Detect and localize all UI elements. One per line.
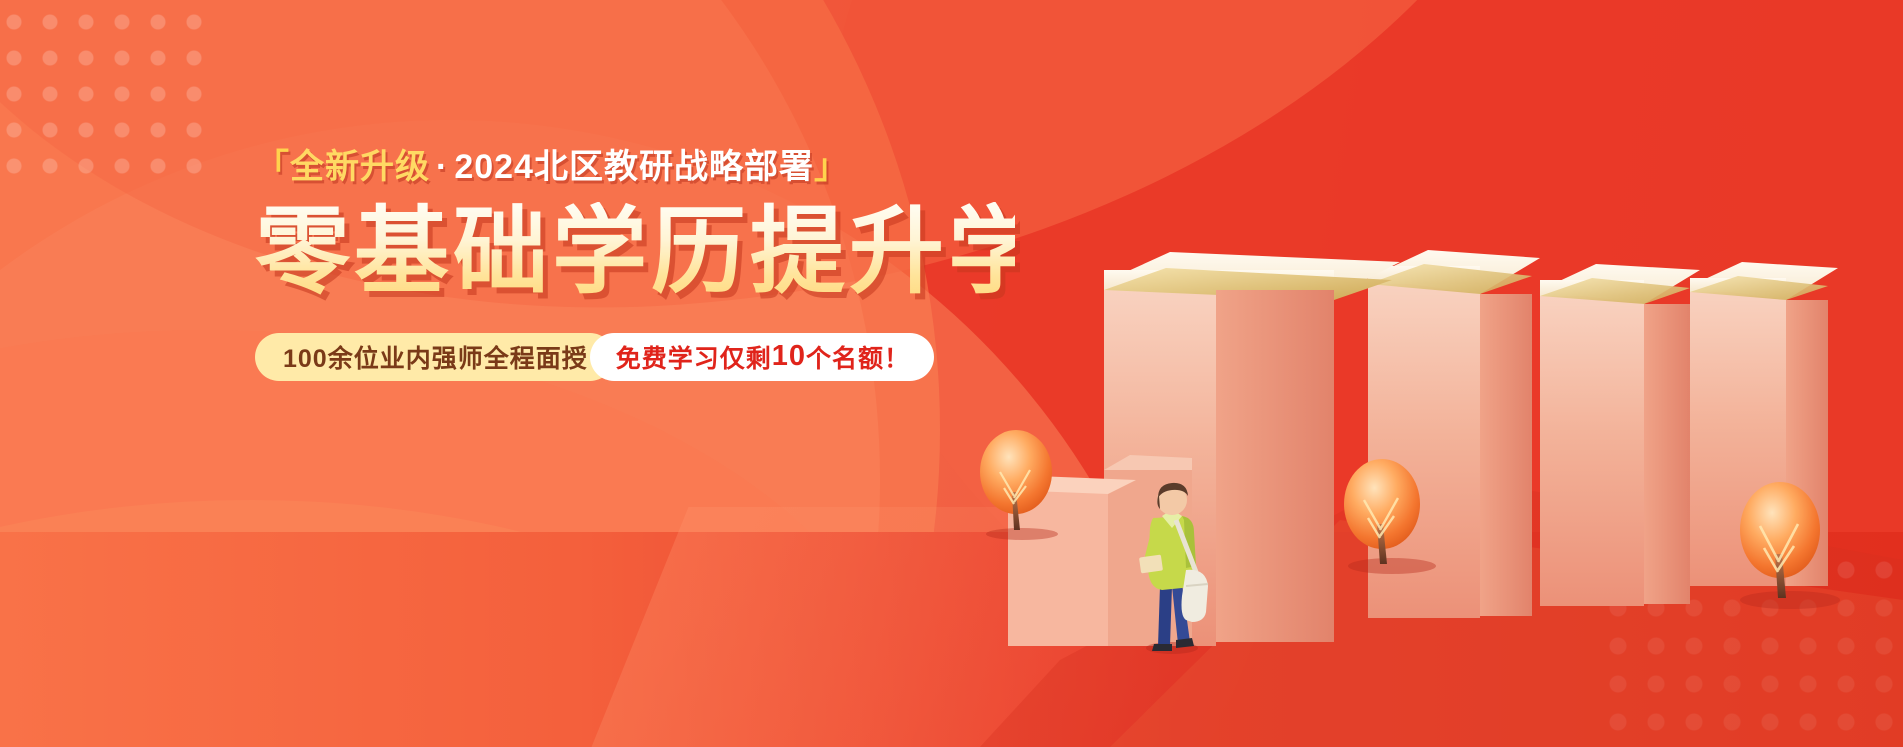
dot-grid-top-left-icon bbox=[0, 4, 206, 194]
subtitle-separator: · bbox=[430, 148, 454, 186]
pill-seats-suffix: 个名额！ bbox=[806, 339, 910, 375]
subtitle-white-text: 2024北区教研战略部署 bbox=[454, 148, 814, 186]
pill-seats-remaining: 免费学习仅剩10个名额！ bbox=[590, 333, 934, 381]
pill-seats-number: 10 bbox=[772, 340, 806, 373]
banner-copy: 「全新升级·2024北区教研战略部署」 零基础学历提升学霸班 100余位业内强师… bbox=[255, 150, 1015, 381]
banner-headline: 零基础学历提升学霸班 bbox=[255, 202, 1015, 303]
banner-pill-group: 100余位业内强师全程面授 免费学习仅剩10个名额！ bbox=[255, 333, 1015, 381]
subtitle-open-bracket: 「 bbox=[255, 148, 290, 186]
pill-faculty: 100余位业内强师全程面授 bbox=[255, 333, 614, 381]
subtitle-gold-text: 全新升级 bbox=[290, 148, 430, 186]
pill-faculty-label: 100余位业内强师全程面授 bbox=[283, 339, 588, 375]
subtitle-close-bracket: 」 bbox=[814, 148, 849, 186]
dot-grid-bottom-right-icon bbox=[1599, 551, 1903, 731]
background-ground-sheen bbox=[592, 507, 1309, 747]
banner-subtitle: 「全新升级·2024北区教研战略部署」 bbox=[255, 150, 1015, 184]
pill-seats-prefix: 免费学习仅剩 bbox=[616, 339, 772, 375]
promo-banner: 「全新升级·2024北区教研战略部署」 零基础学历提升学霸班 100余位业内强师… bbox=[0, 0, 1903, 747]
